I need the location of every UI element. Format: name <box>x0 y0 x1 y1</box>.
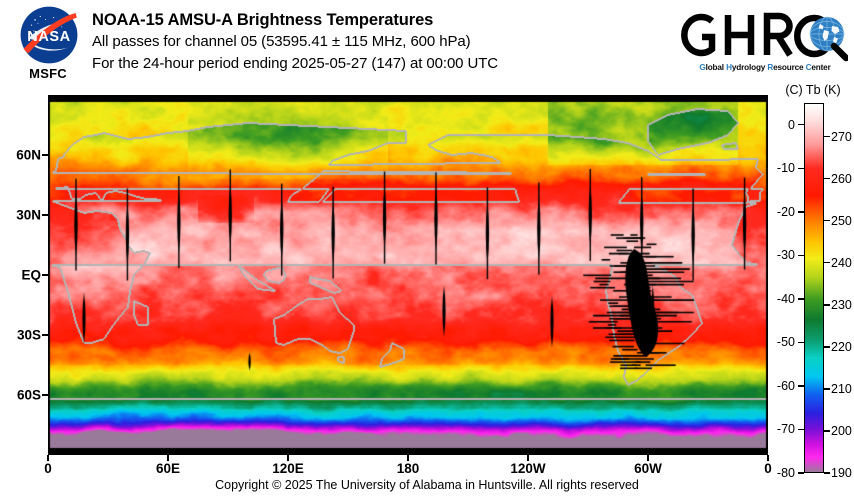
longitude-tick <box>167 455 169 461</box>
colorbar-kelvin-label: 220 <box>831 340 852 354</box>
longitude-label: 120W <box>510 461 545 476</box>
ghrc-tagline: Global Hydrology Resource Center <box>682 63 848 72</box>
longitude-tick <box>647 455 649 461</box>
longitude-tick <box>767 455 769 461</box>
copyright-notice: Copyright © 2025 The University of Alaba… <box>0 478 854 492</box>
longitude-label: 60W <box>634 461 662 476</box>
colorbar-kelvin-label: 240 <box>831 256 852 270</box>
longitude-tick <box>407 455 409 461</box>
colorbar-kelvin-tick <box>824 304 830 305</box>
colorbar-celsius-label: -20 <box>777 205 795 219</box>
colorbar-celsius-tick <box>798 342 804 343</box>
colorbar-celsius-tick <box>798 168 804 169</box>
colorbar-celsius-tick <box>798 255 804 256</box>
colorbar-celsius-label: -50 <box>777 335 795 349</box>
header: NASA MSFC NOAA-15 AMSU-A Brightness Temp… <box>0 0 854 90</box>
latitude-tick <box>42 214 48 216</box>
longitude-tick <box>527 455 529 461</box>
nasa-center-label: MSFC <box>14 66 82 81</box>
latitude-label: EQ <box>21 268 41 283</box>
colorbar-kelvin-tick <box>824 472 830 473</box>
nasa-meatball-icon: NASA <box>20 6 78 64</box>
ghrc-wordmark-icon <box>676 6 848 64</box>
longitude-label: 0 <box>44 461 52 476</box>
latitude-tick <box>42 334 48 336</box>
ghrc-tagline-enter: enter <box>811 63 830 72</box>
colorbar-kelvin-tick <box>824 430 830 431</box>
latitude-label: 30S <box>17 328 41 343</box>
page-subtitle-period: For the 24-hour period ending 2025-05-27… <box>92 53 672 75</box>
colorbar-celsius-label: -60 <box>777 379 795 393</box>
colorbar-celsius-label: -70 <box>777 422 795 436</box>
colorbar-celsius-tick <box>798 472 804 473</box>
title-block: NOAA-15 AMSU-A Brightness Temperatures A… <box>92 9 672 75</box>
ghrc-tagline-ydrology: ydrology <box>732 63 768 72</box>
latitude-tick <box>42 394 48 396</box>
colorbar-kelvin-tick <box>824 136 830 137</box>
colorbar-celsius-label: 0 <box>788 118 795 132</box>
colorbar-celsius-tick <box>798 211 804 212</box>
colorbar-title: (C) Tb (K) <box>774 83 852 97</box>
colorbar-kelvin-tick <box>824 262 830 263</box>
colorbar-kelvin-label: 270 <box>831 130 852 144</box>
colorbar-celsius-tick <box>798 429 804 430</box>
longitude-label: 120E <box>272 461 304 476</box>
colorbar-celsius-label: -40 <box>777 292 795 306</box>
latitude-label: 60S <box>17 388 41 403</box>
longitude-tick <box>47 455 49 461</box>
brightness-temperature-map <box>48 95 768 455</box>
map-canvas <box>48 95 768 455</box>
page-subtitle-channel: All passes for channel 05 (53595.41 ± 11… <box>92 31 672 53</box>
colorbar-kelvin-label: 230 <box>831 298 852 312</box>
page-title: NOAA-15 AMSU-A Brightness Temperatures <box>92 9 672 31</box>
colorbar-gradient <box>804 103 824 473</box>
longitude-label: 180 <box>397 461 420 476</box>
nasa-logo: NASA MSFC <box>14 6 82 86</box>
colorbar-celsius-tick <box>798 385 804 386</box>
colorbar-kelvin-label: 260 <box>831 172 852 186</box>
colorbar: (C) Tb (K) 0-10-20-30-40-50-60-70-802702… <box>776 83 854 473</box>
svg-text:NASA: NASA <box>27 29 70 45</box>
colorbar-celsius-tick <box>798 124 804 125</box>
longitude-label: 60E <box>156 461 180 476</box>
colorbar-kelvin-label: 210 <box>831 382 852 396</box>
ghrc-tagline-esource: esource <box>773 63 805 72</box>
latitude-label: 60N <box>16 148 41 163</box>
colorbar-kelvin-tick <box>824 388 830 389</box>
colorbar-celsius-tick <box>798 298 804 299</box>
ghrc-tagline-lobal: lobal <box>706 63 726 72</box>
latitude-tick <box>42 154 48 156</box>
colorbar-celsius-label: -10 <box>777 161 795 175</box>
longitude-tick <box>287 455 289 461</box>
ghrc-logo: Global Hydrology Resource Center <box>676 6 848 82</box>
longitude-label: 0 <box>764 461 772 476</box>
colorbar-kelvin-label: 250 <box>831 214 852 228</box>
colorbar-kelvin-tick <box>824 178 830 179</box>
latitude-label: 30N <box>16 208 41 223</box>
colorbar-kelvin-tick <box>824 346 830 347</box>
latitude-tick <box>42 274 48 276</box>
colorbar-kelvin-label: 200 <box>831 424 852 438</box>
colorbar-kelvin-tick <box>824 220 830 221</box>
colorbar-celsius-label: -30 <box>777 248 795 262</box>
